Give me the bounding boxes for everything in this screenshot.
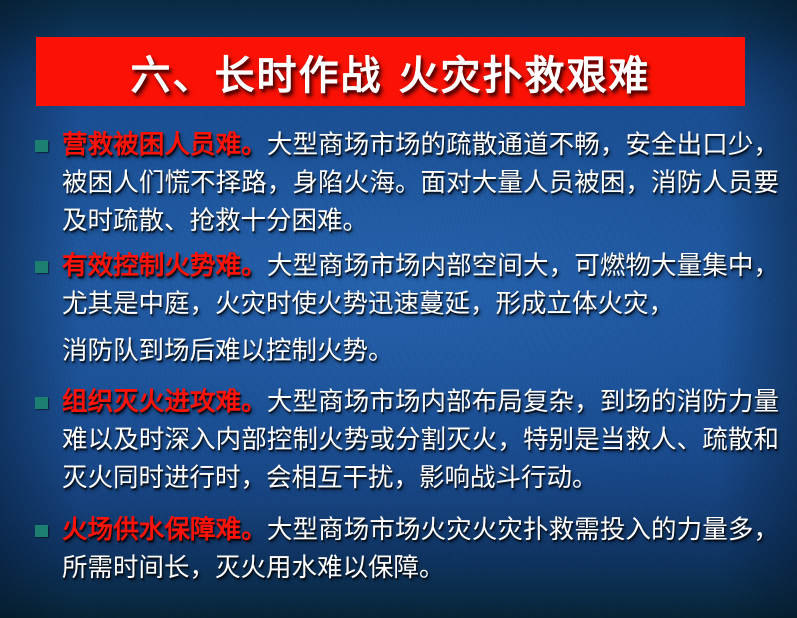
- bullet-paragraph-4: 火场供水保障难。大型商场市场火灾火灾扑救需投入的力量多，所需时间长，灭火用水难以…: [62, 511, 779, 587]
- square-bullet-icon: [35, 261, 48, 273]
- bullet-paragraph-2: 有效控制火势难。大型商场市场内部空间大，可燃物大量集中，尤其是中庭，火灾时使火势…: [62, 247, 779, 323]
- bullet-lead-1: 营救被困人员难。: [62, 130, 267, 160]
- bullet-item-3: 组织灭火进攻难。大型商场市场内部布局复杂，到场的消防力量难以及时深入内部控制火势…: [0, 383, 797, 497]
- bullet-text-2-continued: 消防队到场后难以控制火势。: [62, 332, 779, 370]
- bullet-paragraph-1: 营救被困人员难。大型商场市场的疏散通道不畅，安全出口少，被困人们慌不择路，身陷火…: [62, 126, 779, 240]
- slide-title: 六、长时作战 火灾扑救艰难: [131, 43, 651, 101]
- bullet-lead-2: 有效控制火势难。: [62, 251, 267, 281]
- bullet-item-1: 营救被困人员难。大型商场市场的疏散通道不畅，安全出口少，被困人们慌不择路，身陷火…: [0, 126, 797, 240]
- presentation-slide: 六、长时作战 火灾扑救艰难 营救被困人员难。大型商场市场的疏散通道不畅，安全出口…: [0, 0, 797, 618]
- square-bullet-icon: [35, 397, 48, 409]
- bullet-paragraph-3: 组织灭火进攻难。大型商场市场内部布局复杂，到场的消防力量难以及时深入内部控制火势…: [62, 383, 779, 497]
- square-bullet-icon: [35, 140, 48, 152]
- bullet-item-2: 有效控制火势难。大型商场市场内部空间大，可燃物大量集中，尤其是中庭，火灾时使火势…: [0, 247, 797, 370]
- bullet-lead-3: 组织灭火进攻难。: [62, 387, 267, 417]
- slide-body: 营救被困人员难。大型商场市场的疏散通道不畅，安全出口少，被困人们慌不择路，身陷火…: [0, 123, 797, 591]
- bullet-lead-4: 火场供水保障难。: [62, 515, 267, 545]
- square-bullet-icon: [35, 525, 48, 537]
- bullet-item-4: 火场供水保障难。大型商场市场火灾火灾扑救需投入的力量多，所需时间长，灭火用水难以…: [0, 511, 797, 587]
- title-banner: 六、长时作战 火灾扑救艰难: [36, 37, 745, 106]
